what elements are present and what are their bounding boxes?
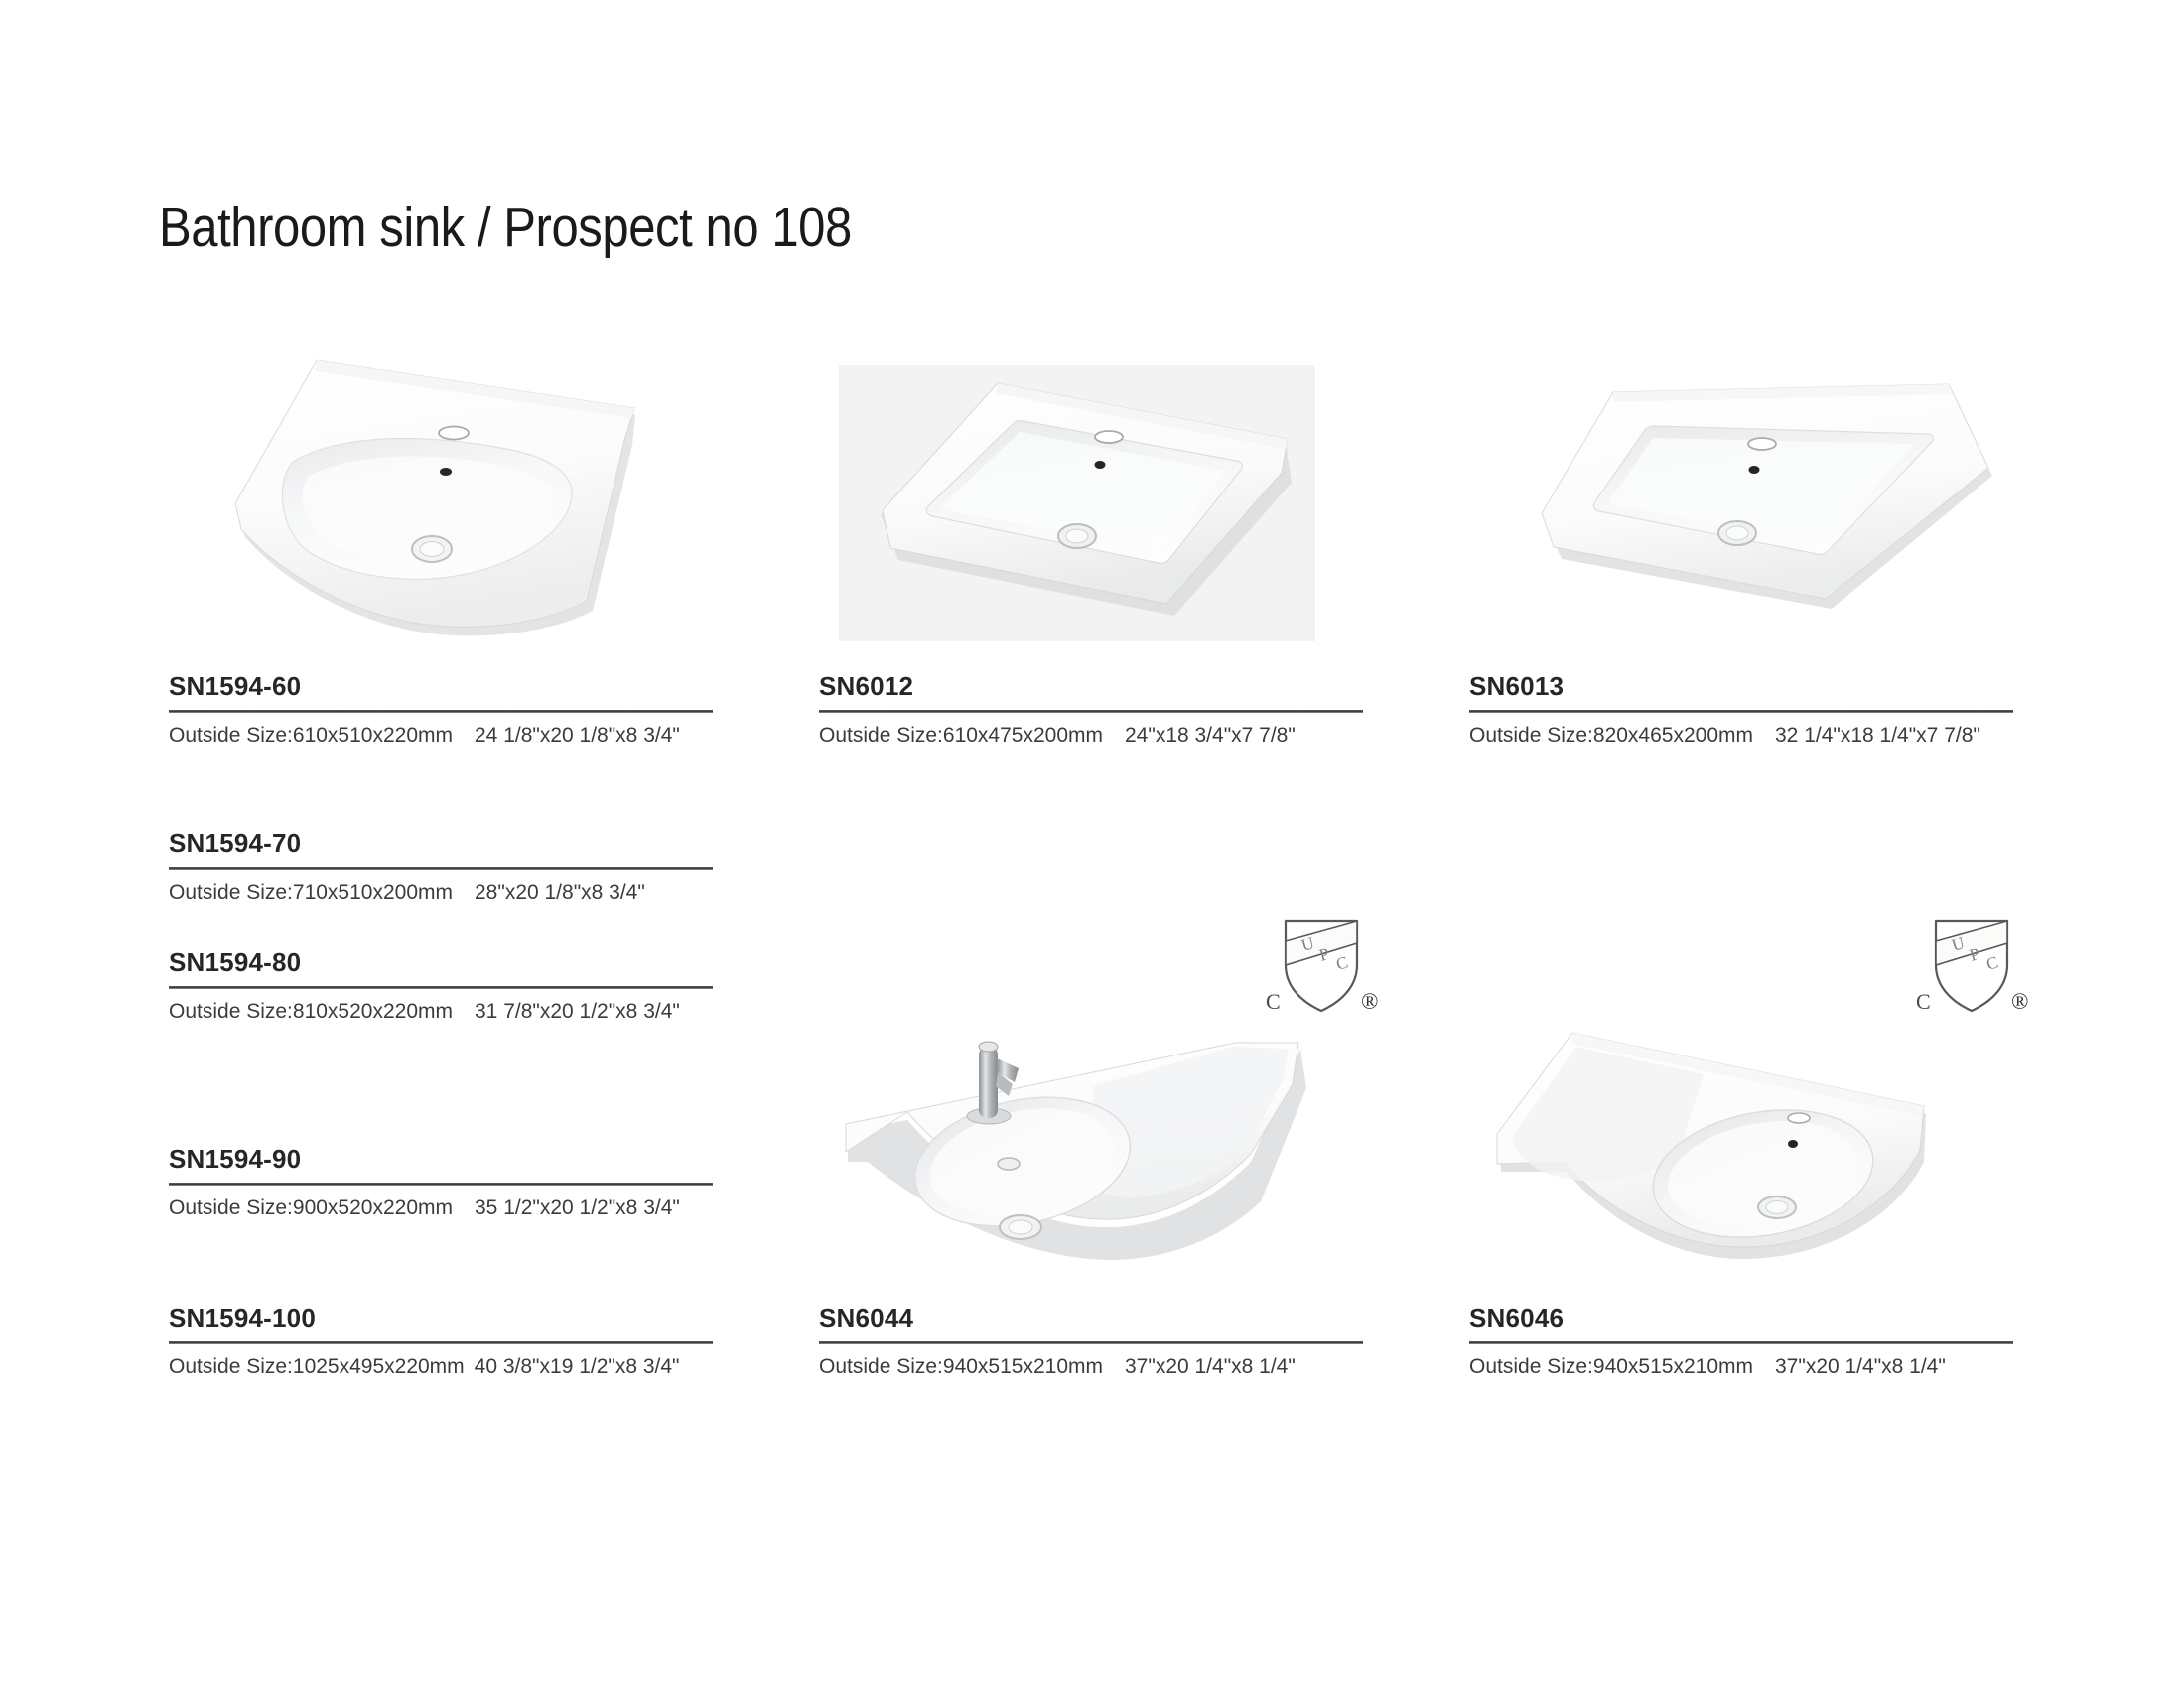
product-spec-sn1594-100: SN1594-100 Outside Size:1025x495x220mm40… <box>169 1303 713 1380</box>
product-spec-sn1594-70: SN1594-70 Outside Size:710x510x200mm28"x… <box>169 828 713 906</box>
divider <box>1469 1341 2013 1344</box>
product-model-name: SN6044 <box>819 1303 1363 1333</box>
divider <box>819 1341 1363 1344</box>
product-model-name: SN6046 <box>1469 1303 2013 1333</box>
divider <box>169 986 713 989</box>
dimensions-inch: 28"x20 1/8"x8 3/4" <box>475 881 645 904</box>
divider <box>169 867 713 870</box>
dimensions-inch: 40 3/8"x19 1/2"x8 3/4" <box>475 1355 680 1378</box>
product-dimensions: Outside Size:940x515x210mm37"x20 1/4"x8 … <box>1469 1354 2013 1380</box>
dimensions-mm: Outside Size:940x515x210mm <box>1469 1355 1753 1378</box>
product-dimensions: Outside Size:810x520x220mm31 7/8"x20 1/2… <box>169 999 713 1025</box>
dimensions-mm: Outside Size:710x510x200mm <box>169 881 453 904</box>
divider <box>1469 710 2013 713</box>
product-spec-sn6012: SN6012 Outside Size:610x475x200mm24"x18 … <box>819 671 1363 749</box>
product-dimensions: Outside Size:1025x495x220mm40 3/8"x19 1/… <box>169 1354 713 1380</box>
product-spec-sn6046: SN6046 Outside Size:940x515x210mm37"x20 … <box>1469 1303 2013 1380</box>
divider <box>169 1183 713 1186</box>
product-model-name: SN1594-70 <box>169 828 713 858</box>
product-dimensions: Outside Size:610x475x200mm24"x18 3/4"x7 … <box>819 723 1363 749</box>
dimensions-inch: 35 1/2"x20 1/2"x8 3/4" <box>475 1196 680 1219</box>
product-model-name: SN1594-80 <box>169 947 713 977</box>
product-model-name: SN6012 <box>819 671 1363 701</box>
product-spec-sn1594-90: SN1594-90 Outside Size:900x520x220mm35 1… <box>169 1144 713 1221</box>
dimensions-inch: 37"x20 1/4"x8 1/4" <box>1125 1355 1296 1378</box>
dimensions-inch: 24 1/8"x20 1/8"x8 3/4" <box>475 724 680 747</box>
dimensions-mm: Outside Size:610x510x220mm <box>169 724 453 747</box>
dimensions-inch: 37"x20 1/4"x8 1/4" <box>1775 1355 1946 1378</box>
product-spec-sn1594-60: SN1594-60 Outside Size:610x510x220mm24 1… <box>169 671 713 749</box>
product-spec-sn1594-80: SN1594-80 Outside Size:810x520x220mm31 7… <box>169 947 713 1025</box>
product-model-name: SN1594-60 <box>169 671 713 701</box>
column-right: SN6013 Outside Size:820x465x200mm32 1/4"… <box>1469 0 2025 1688</box>
dimensions-mm: Outside Size:900x520x220mm <box>169 1196 453 1219</box>
product-spec-sn6013: SN6013 Outside Size:820x465x200mm32 1/4"… <box>1469 671 2013 749</box>
dimensions-mm: Outside Size:610x475x200mm <box>819 724 1103 747</box>
column-left: SN1594-60 Outside Size:610x510x220mm24 1… <box>169 0 725 1688</box>
dimensions-inch: 24"x18 3/4"x7 7/8" <box>1125 724 1296 747</box>
column-middle: SN6012 Outside Size:610x475x200mm24"x18 … <box>819 0 1375 1688</box>
product-dimensions: Outside Size:710x510x200mm28"x20 1/8"x8 … <box>169 880 713 906</box>
product-model-name: SN1594-90 <box>169 1144 713 1174</box>
dimensions-mm: Outside Size:940x515x210mm <box>819 1355 1103 1378</box>
dimensions-inch: 31 7/8"x20 1/2"x8 3/4" <box>475 1000 680 1023</box>
divider <box>819 710 1363 713</box>
product-dimensions: Outside Size:900x520x220mm35 1/2"x20 1/2… <box>169 1196 713 1221</box>
product-dimensions: Outside Size:940x515x210mm37"x20 1/4"x8 … <box>819 1354 1363 1380</box>
dimensions-inch: 32 1/4"x18 1/4"x7 7/8" <box>1775 724 1980 747</box>
dimensions-mm: Outside Size:1025x495x220mm <box>169 1355 465 1378</box>
dimensions-mm: Outside Size:810x520x220mm <box>169 1000 453 1023</box>
product-dimensions: Outside Size:820x465x200mm32 1/4"x18 1/4… <box>1469 723 2013 749</box>
product-spec-sn6044: SN6044 Outside Size:940x515x210mm37"x20 … <box>819 1303 1363 1380</box>
dimensions-mm: Outside Size:820x465x200mm <box>1469 724 1753 747</box>
product-dimensions: Outside Size:610x510x220mm24 1/8"x20 1/8… <box>169 723 713 749</box>
product-model-name: SN1594-100 <box>169 1303 713 1333</box>
product-model-name: SN6013 <box>1469 671 2013 701</box>
divider <box>169 710 713 713</box>
divider <box>169 1341 713 1344</box>
